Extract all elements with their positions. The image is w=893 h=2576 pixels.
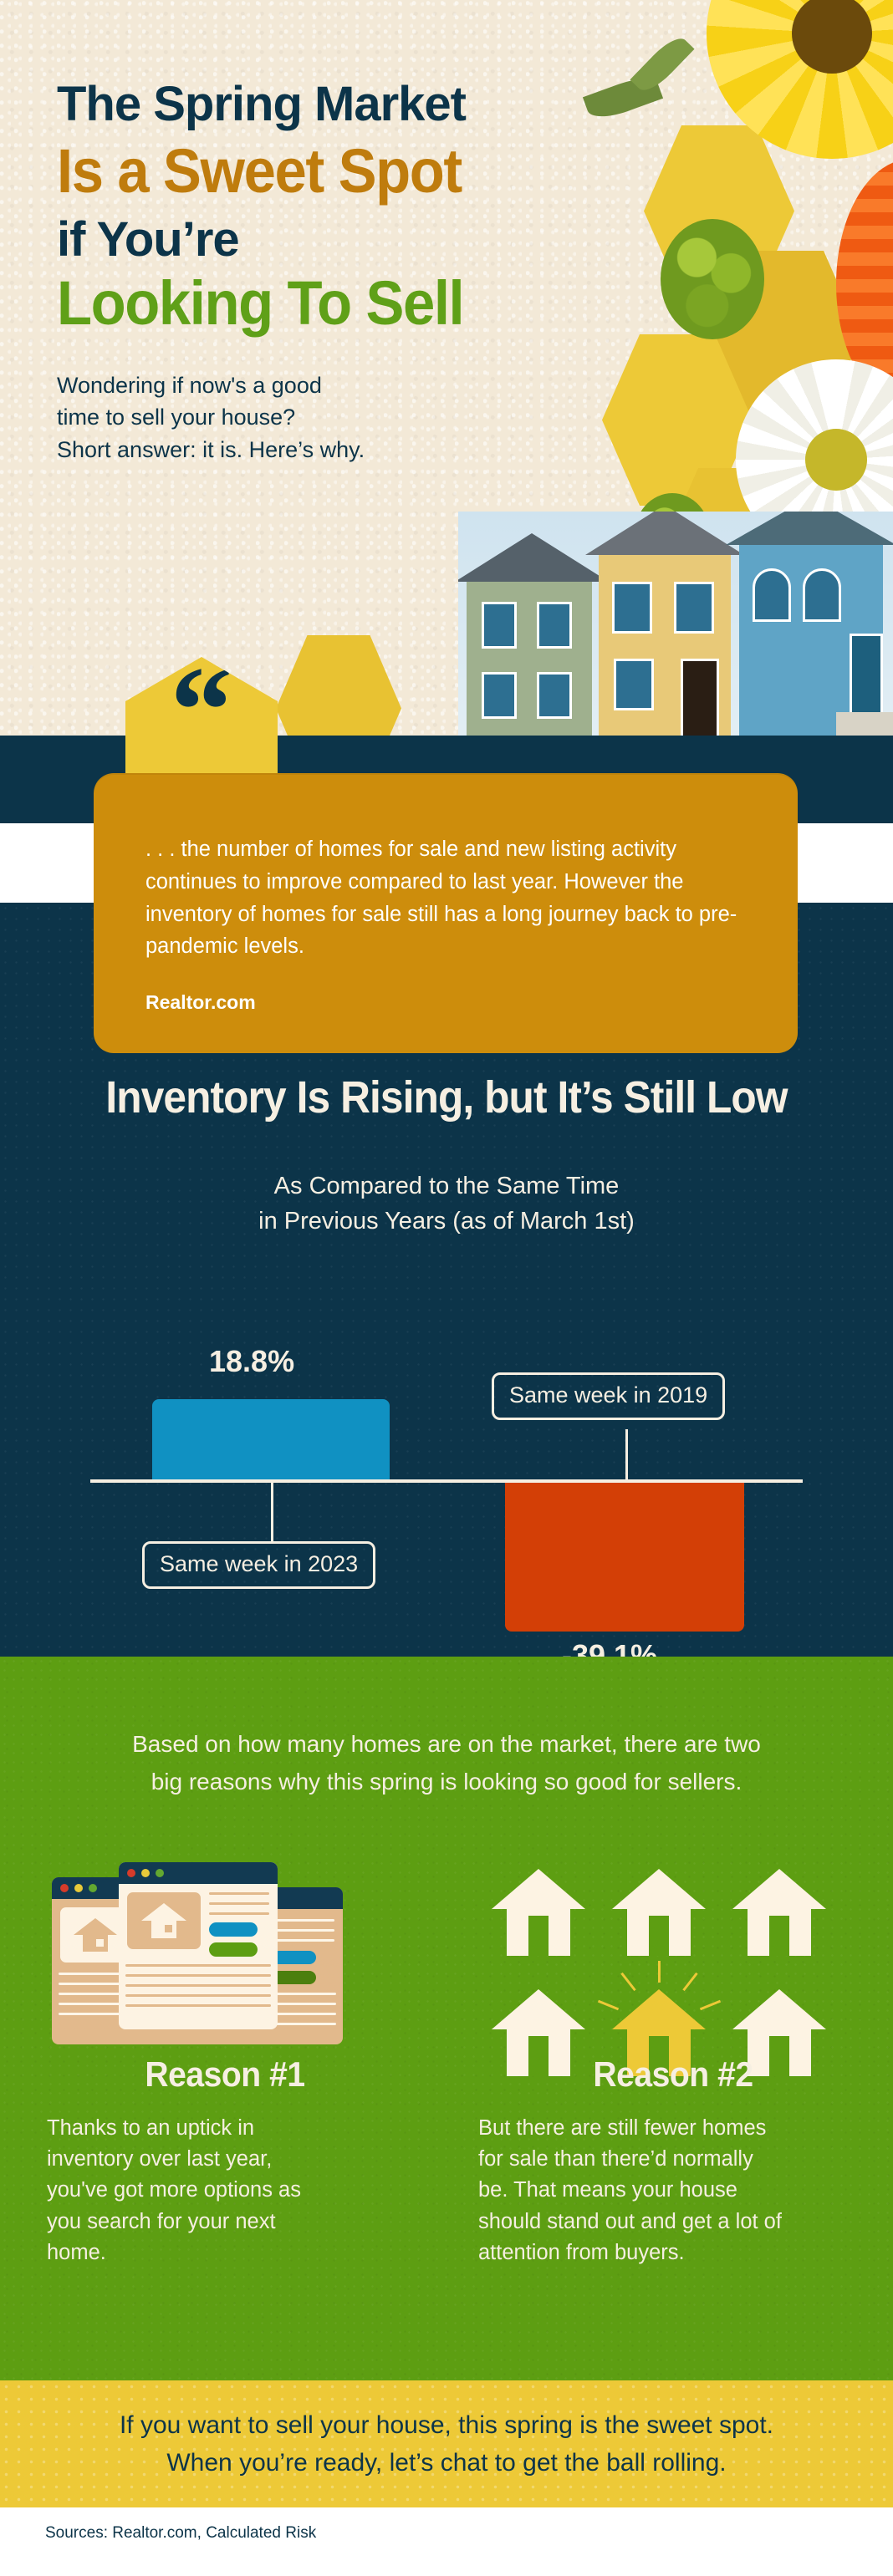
yellow-gerbera-flower xyxy=(707,0,893,159)
green-mum-flower-1 xyxy=(661,219,764,339)
callout-label-2019: Same week in 2019 xyxy=(492,1372,725,1420)
quote-source: Realtor.com xyxy=(145,991,742,1014)
sparkle-ray xyxy=(620,1973,635,1991)
cta-text: If you want to sell your house, this spr… xyxy=(120,2406,773,2482)
house-glyph xyxy=(732,1869,826,1956)
hero-subheadline-line-3: Short answer: it is. Here’s why. xyxy=(57,434,609,466)
quote-block: “ . . . the number of homes for sale and… xyxy=(0,635,893,1070)
headline-line-1: The Spring Market xyxy=(57,80,609,129)
window-dot-yellow xyxy=(141,1869,150,1877)
headline-line-3: if You’re xyxy=(57,216,609,264)
reasons-section: Based on how many homes are on the marke… xyxy=(0,1657,893,2380)
reasons-intro-line-1: Based on how many homes are on the marke… xyxy=(50,1725,843,1763)
chart-subtitle-line-1: As Compared to the Same Time xyxy=(0,1168,893,1204)
hero-subheadline-line-2: time to sell your house? xyxy=(57,401,609,433)
reason-1-body: Thanks to an uptick in inventory over la… xyxy=(28,2113,321,2268)
window-dot-red xyxy=(127,1869,135,1877)
house-glyph xyxy=(612,1869,706,1956)
cta-banner: If you want to sell your house, this spr… xyxy=(0,2380,893,2507)
chart-subtitle-line-2: in Previous Years (as of March 1st) xyxy=(0,1204,893,1239)
sparkle-ray xyxy=(658,1961,661,1983)
window-dot-green xyxy=(89,1884,97,1892)
house-glyph xyxy=(492,1869,585,1956)
bar-chart-plot: 18.8% -39.1% Same week in 2023 Same week… xyxy=(0,1270,893,1655)
cta-line-2: When you’re ready, let’s chat to get the… xyxy=(120,2444,773,2482)
reason-2-title: Reason #2 xyxy=(490,2054,855,2095)
headline-line-2: Is a Sweet Spot xyxy=(57,140,570,202)
hero-text-block: The Spring Market Is a Sweet Spot if You… xyxy=(57,80,609,466)
quote-card: . . . the number of homes for sale and n… xyxy=(94,773,798,1053)
listing-cards-icon xyxy=(28,1862,421,2054)
bar-2019 xyxy=(505,1483,744,1632)
chart-subtitle: As Compared to the Same Time in Previous… xyxy=(0,1168,893,1239)
hero-subheadline-line-1: Wondering if now's a good xyxy=(57,369,609,401)
quote-text: . . . the number of homes for sale and n… xyxy=(145,833,742,963)
sparkle-ray xyxy=(682,1973,697,1991)
reasons-intro-line-2: big reasons why this spring is looking s… xyxy=(50,1763,843,1800)
bar-value-label-2023: 18.8% xyxy=(209,1344,294,1379)
sources-note: Sources: Realtor.com, Calculated Risk xyxy=(45,2524,316,2543)
bar-2023 xyxy=(152,1399,390,1483)
reason-column-1: Reason #1 Thanks to an uptick in invento… xyxy=(28,1862,421,2268)
reasons-intro: Based on how many homes are on the marke… xyxy=(50,1725,843,1801)
callout-stem-2019 xyxy=(625,1429,628,1483)
chart-title: Inventory Is Rising, but It’s Still Low xyxy=(36,1072,858,1123)
quotation-mark-icon: “ xyxy=(171,657,233,765)
callout-label-2023: Same week in 2023 xyxy=(142,1541,375,1589)
window-dot-yellow xyxy=(74,1884,83,1892)
house-grid-icon xyxy=(477,1862,870,2054)
reason-1-title: Reason #1 xyxy=(42,2054,407,2095)
hero-subheadline: Wondering if now's a good time to sell y… xyxy=(57,369,609,466)
window-dot-red xyxy=(60,1884,69,1892)
reason-2-body: But there are still fewer homes for sale… xyxy=(477,2113,783,2268)
bar-value-label-2019: -39.1% xyxy=(562,1638,657,1657)
headline-line-4: Looking To Sell xyxy=(57,272,570,334)
reason-column-2: Reason #2 But there are still fewer home… xyxy=(477,1862,870,2268)
callout-stem-2023 xyxy=(271,1483,273,1541)
window-dot-green xyxy=(156,1869,164,1877)
cta-line-1: If you want to sell your house, this spr… xyxy=(120,2406,773,2444)
